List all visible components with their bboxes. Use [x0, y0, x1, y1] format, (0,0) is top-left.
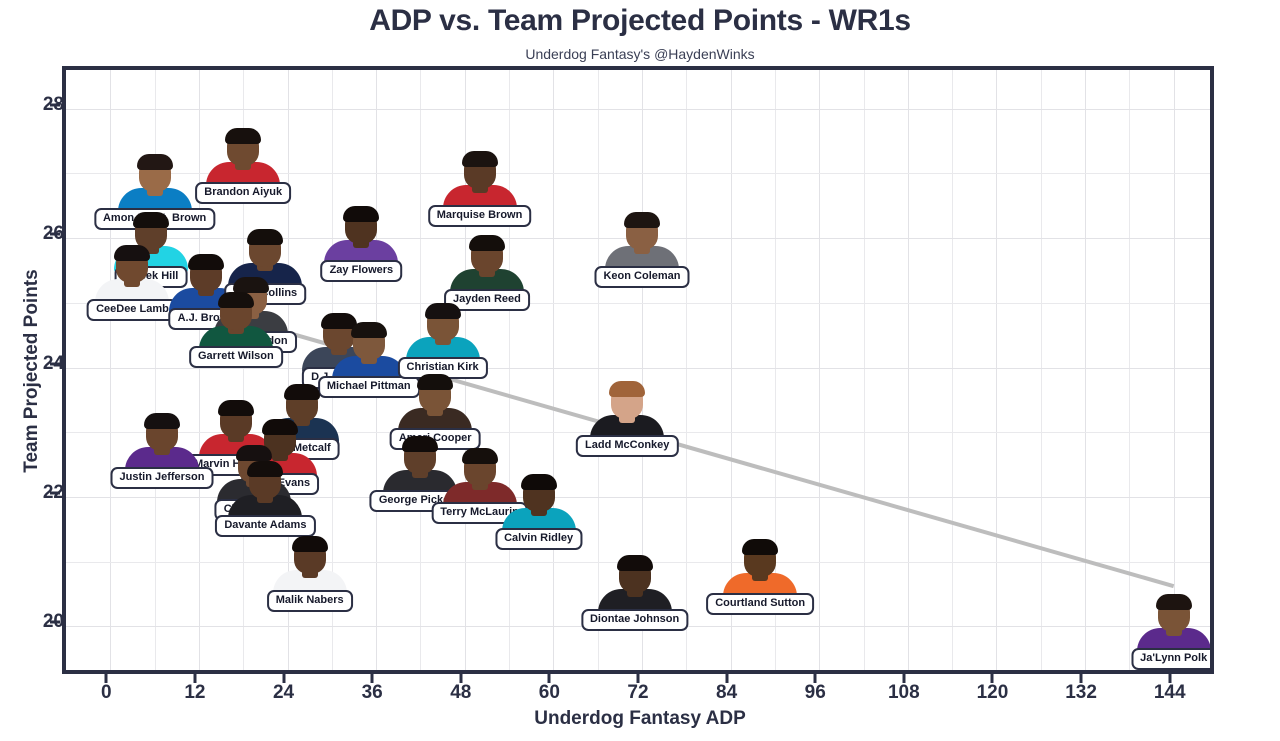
- gridline-vertical: [110, 70, 111, 670]
- data-point[interactable]: Malik Nabers: [273, 534, 347, 596]
- player-name-label[interactable]: Calvin Ridley: [495, 528, 582, 550]
- x-axis-tick-mark: [725, 674, 728, 683]
- data-point[interactable]: Davante Adams: [228, 459, 302, 521]
- gridline-vertical-minor: [952, 70, 953, 670]
- data-point[interactable]: Amari Cooper: [398, 372, 472, 434]
- player-headshot-icon: [206, 126, 280, 188]
- chart-title: ADP vs. Team Projected Points - WR1s: [0, 4, 1280, 38]
- data-point[interactable]: Keon Coleman: [605, 210, 679, 272]
- x-axis-tick-mark: [371, 674, 374, 683]
- data-point[interactable]: Brandon Aiyuk: [206, 126, 280, 188]
- data-point[interactable]: Ladd McConkey: [590, 379, 664, 441]
- y-axis-tick-mark: [50, 362, 60, 365]
- player-headshot-icon: [723, 537, 797, 599]
- x-axis-tick-label: 144: [1110, 682, 1230, 704]
- gridline-vertical-minor: [864, 70, 865, 670]
- gridline-vertical: [996, 70, 997, 670]
- y-axis-tick-mark: [50, 103, 60, 106]
- player-name-label[interactable]: Justin Jefferson: [111, 467, 214, 489]
- x-axis-title: Underdog Fantasy ADP: [0, 708, 1280, 730]
- player-headshot-icon: [1137, 592, 1210, 654]
- player-headshot-icon: [406, 301, 480, 363]
- x-axis-tick-mark: [193, 674, 196, 683]
- player-headshot-icon: [598, 553, 672, 615]
- player-headshot-icon: [228, 459, 302, 521]
- player-headshot-icon: [605, 210, 679, 272]
- data-point[interactable]: Justin Jefferson: [125, 411, 199, 473]
- data-point[interactable]: Marquise Brown: [443, 149, 517, 211]
- y-axis-tick-mark: [50, 491, 60, 494]
- player-headshot-icon: [273, 534, 347, 596]
- player-headshot-icon: [199, 290, 273, 352]
- x-axis-tick-mark: [814, 674, 817, 683]
- plot-inner: Amon-Ra St. BrownBrandon AiyukTyreek Hil…: [66, 70, 1210, 670]
- player-name-label[interactable]: CeeDee Lamb: [87, 299, 178, 321]
- player-headshot-icon: [324, 204, 398, 266]
- x-axis-tick-mark: [1168, 674, 1171, 683]
- player-name-label[interactable]: Keon Coleman: [594, 266, 689, 288]
- y-axis-tick-mark: [50, 233, 60, 236]
- data-point[interactable]: Calvin Ridley: [502, 472, 576, 534]
- data-point[interactable]: Jayden Reed: [450, 233, 524, 295]
- player-headshot-icon: [398, 372, 472, 434]
- x-axis-tick-mark: [459, 674, 462, 683]
- player-name-label[interactable]: Brandon Aiyuk: [195, 182, 291, 204]
- player-headshot-icon: [125, 411, 199, 473]
- x-axis-tick-mark: [902, 674, 905, 683]
- data-point[interactable]: Amon-Ra St. Brown: [118, 152, 192, 214]
- gridline-vertical: [199, 70, 200, 670]
- player-name-label[interactable]: Diontae Johnson: [581, 609, 688, 631]
- gridline-vertical: [1085, 70, 1086, 670]
- x-axis-tick-mark: [1080, 674, 1083, 683]
- data-point[interactable]: Michael Pittman: [332, 320, 406, 382]
- player-headshot-icon: [590, 379, 664, 441]
- x-axis-tick-mark: [548, 674, 551, 683]
- x-axis-tick-mark: [637, 674, 640, 683]
- player-headshot-icon: [118, 152, 192, 214]
- player-headshot-icon: [450, 233, 524, 295]
- plot-area: Amon-Ra St. BrownBrandon AiyukTyreek Hil…: [62, 66, 1214, 674]
- data-point[interactable]: CeeDee Lamb: [95, 243, 169, 305]
- chart-subtitle: Underdog Fantasy's @HaydenWinks: [0, 46, 1280, 62]
- gridline-horizontal: [66, 109, 1210, 110]
- player-name-label[interactable]: Malik Nabers: [267, 590, 353, 612]
- x-axis-tick-mark: [991, 674, 994, 683]
- player-name-label[interactable]: Ja'Lynn Polk: [1131, 648, 1210, 670]
- player-headshot-icon: [332, 320, 406, 382]
- data-point[interactable]: Ja'Lynn Polk: [1137, 592, 1210, 654]
- player-name-label[interactable]: Zay Flowers: [321, 260, 403, 282]
- data-point[interactable]: Christian Kirk: [406, 301, 480, 363]
- player-headshot-icon: [95, 243, 169, 305]
- gridline-vertical-minor: [1129, 70, 1130, 670]
- player-name-label[interactable]: Marquise Brown: [428, 205, 532, 227]
- gridline-vertical: [908, 70, 909, 670]
- gridline-vertical: [1174, 70, 1175, 670]
- data-point[interactable]: Zay Flowers: [324, 204, 398, 266]
- player-headshot-icon: [443, 149, 517, 211]
- player-headshot-icon: [502, 472, 576, 534]
- player-name-label[interactable]: Courtland Sutton: [706, 593, 814, 615]
- x-axis-tick-mark: [105, 674, 108, 683]
- data-point[interactable]: Diontae Johnson: [598, 553, 672, 615]
- gridline-vertical-minor: [686, 70, 687, 670]
- x-axis-tick-mark: [282, 674, 285, 683]
- player-name-label[interactable]: Garrett Wilson: [189, 346, 283, 368]
- gridline-vertical: [553, 70, 554, 670]
- y-axis-tick-mark: [50, 621, 60, 624]
- data-point[interactable]: Courtland Sutton: [723, 537, 797, 599]
- gridline-vertical-minor: [1041, 70, 1042, 670]
- data-point[interactable]: Garrett Wilson: [199, 290, 273, 352]
- player-name-label[interactable]: Ladd McConkey: [576, 435, 678, 457]
- gridline-vertical: [819, 70, 820, 670]
